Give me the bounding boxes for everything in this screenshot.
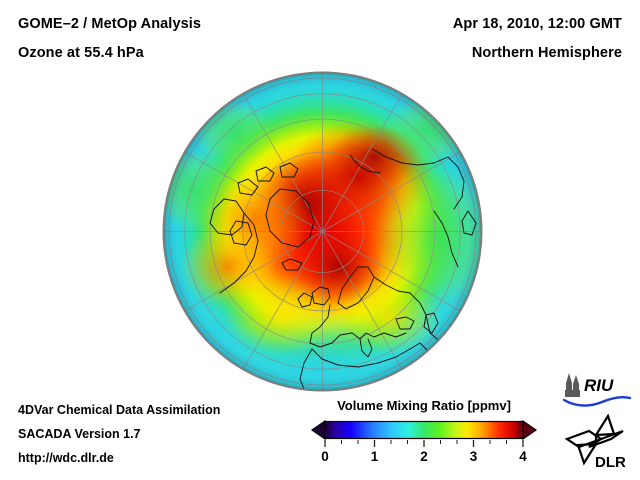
ozone-globe-map bbox=[162, 71, 483, 392]
method-label: 4DVar Chemical Data Assimilation bbox=[18, 403, 220, 417]
colorbar-axis: 01234 bbox=[306, 440, 542, 470]
riu-logo: RIU bbox=[560, 371, 632, 407]
riu-wave-icon bbox=[564, 397, 630, 405]
source-url: http://wdc.dlr.de bbox=[18, 451, 114, 465]
colorbar-tick-label: 3 bbox=[470, 449, 478, 464]
page-title: GOME–2 / MetOp Analysis bbox=[18, 16, 201, 32]
colorbar-under-arrow bbox=[312, 421, 325, 439]
version-label: SACADA Version 1.7 bbox=[18, 427, 141, 441]
observation-datetime: Apr 18, 2010, 12:00 GMT bbox=[453, 16, 622, 32]
riu-wordmark: RIU bbox=[584, 376, 614, 395]
colorbar: Volume Mixing Ratio [ppmv] 01234 bbox=[306, 398, 542, 474]
colorbar-tick-label: 2 bbox=[420, 449, 428, 464]
colorbar-tick-label: 1 bbox=[371, 449, 379, 464]
colorbar-bar bbox=[325, 422, 523, 439]
colorbar-over-arrow bbox=[523, 421, 536, 439]
colorbar-tick-label: 0 bbox=[321, 449, 329, 464]
colorbar-title: Volume Mixing Ratio [ppmv] bbox=[306, 398, 542, 413]
page-subtitle: Ozone at 55.4 hPa bbox=[18, 45, 144, 61]
region-label: Northern Hemisphere bbox=[472, 45, 622, 61]
colorbar-tick-marks bbox=[306, 440, 542, 448]
colorbar-tick-label: 4 bbox=[519, 449, 527, 464]
dlr-logo: DLR bbox=[561, 413, 631, 470]
colorbar-gradient bbox=[306, 418, 542, 442]
dlr-wordmark: DLR bbox=[595, 454, 626, 470]
cathedral-spires-icon bbox=[565, 373, 580, 397]
